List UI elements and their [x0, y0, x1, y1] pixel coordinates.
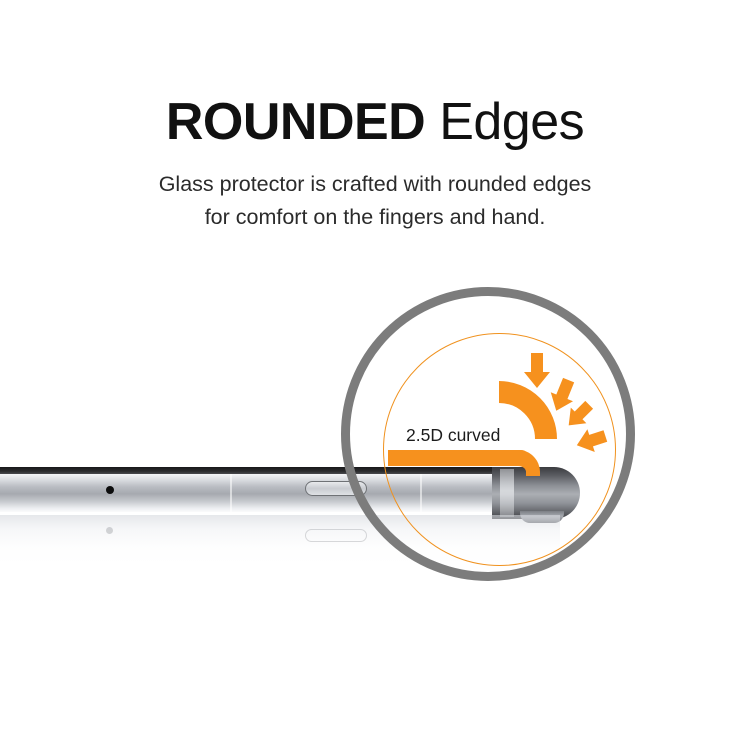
phone-reflection-mic [106, 527, 113, 534]
phone-antenna-seam [230, 474, 232, 512]
page-title-strong: ROUNDED [166, 93, 425, 151]
page-subtitle: Glass protector is crafted with rounded … [0, 168, 750, 234]
glass-protector-bar-icon [388, 450, 530, 466]
page-subtitle-line-1: Glass protector is crafted with rounded … [0, 168, 750, 201]
page-subtitle-line-2: for comfort on the fingers and hand. [0, 201, 750, 234]
page-title: ROUNDED Edges [0, 92, 750, 152]
curved-label: 2.5D curved [406, 424, 500, 446]
microphone-hole-icon [106, 486, 114, 494]
glass-protector-curved-edge-icon [512, 450, 540, 476]
phone-reflection-button [305, 529, 367, 542]
product-feature-image: ROUNDED Edges Glass protector is crafted… [0, 0, 750, 750]
page-title-light: Edges [425, 93, 584, 151]
